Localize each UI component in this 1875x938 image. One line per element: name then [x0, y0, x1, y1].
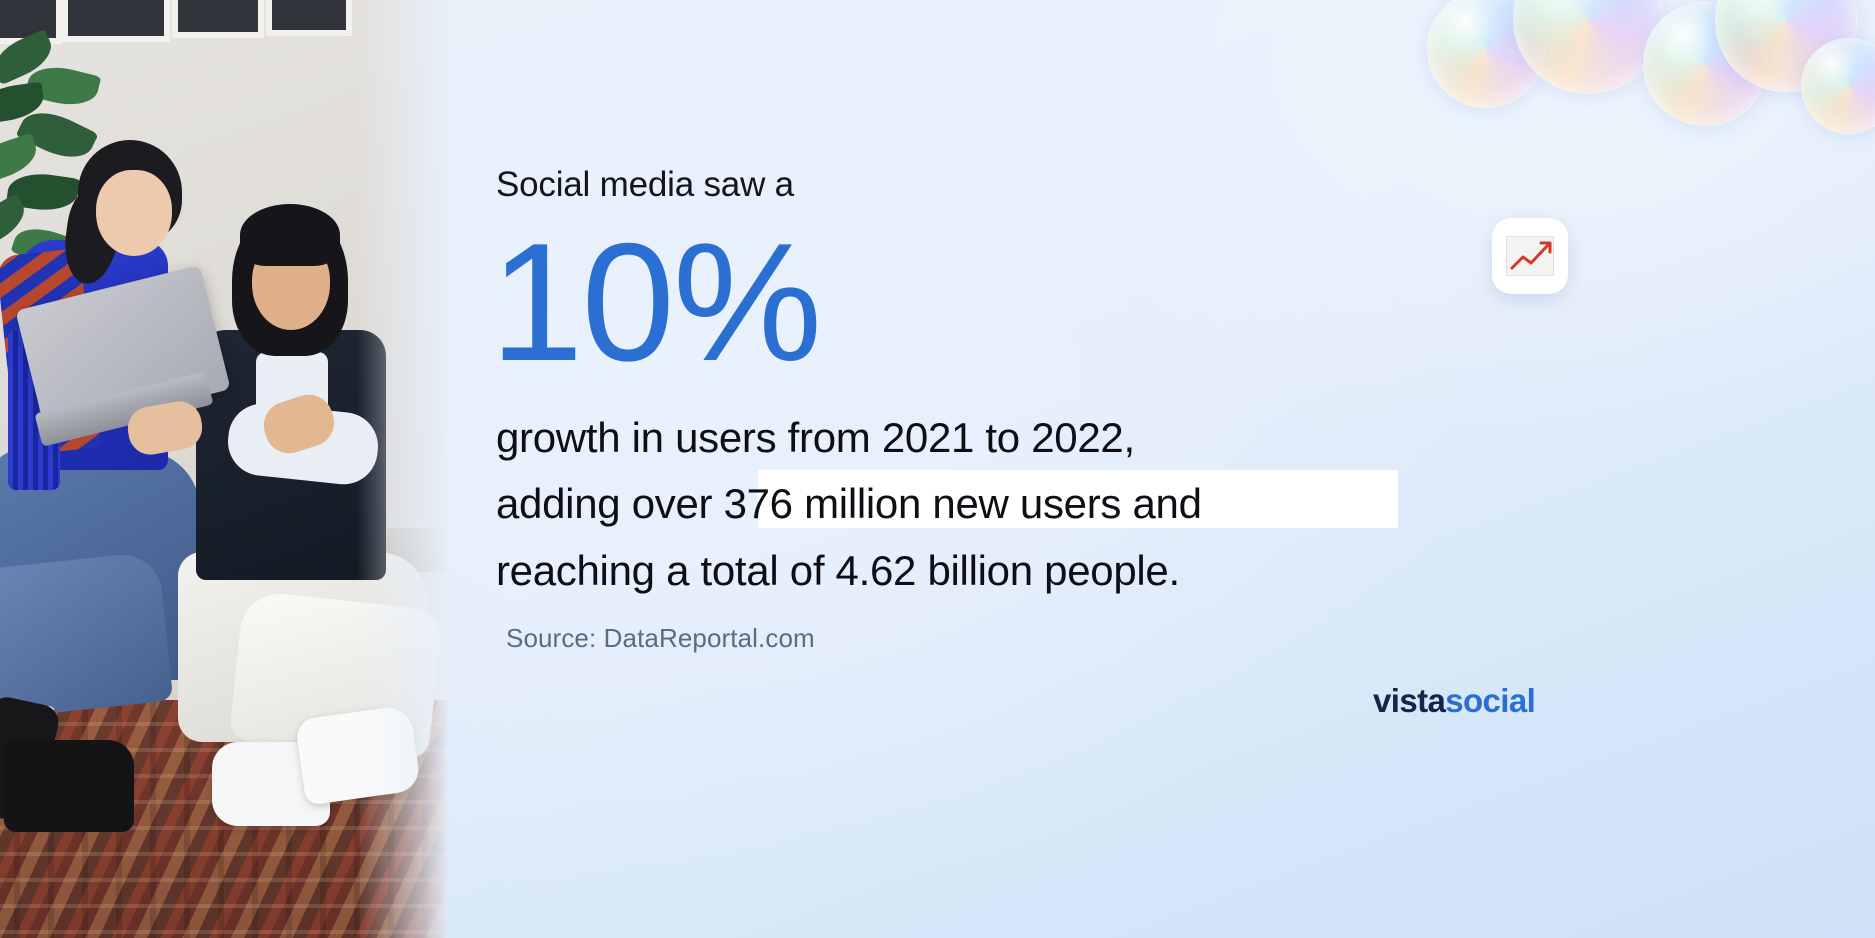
body-line-3: reaching a total of 4.62 billion people.: [496, 538, 1496, 604]
body-line-1: growth in users from 2021 to 2022,: [496, 405, 1496, 471]
copy-block: Social media saw a 10% growth in users f…: [496, 0, 1836, 938]
person-left-face: [96, 170, 172, 256]
photo-edge-fade: [357, 0, 447, 938]
body-line-2: adding over 376 million new users and: [496, 471, 1496, 537]
person-left-jeans: [0, 551, 173, 719]
person-left-boot: [4, 740, 134, 832]
logo-part-social: social: [1445, 682, 1535, 719]
logo-part-vista: vista: [1373, 682, 1445, 719]
content-panel: Social media saw a 10% growth in users f…: [447, 0, 1875, 938]
vistasocial-logo: vistasocial: [1373, 682, 1535, 720]
window-pane: [172, 0, 264, 38]
kicker-text: Social media saw a: [496, 165, 1396, 205]
person-right-hair: [240, 204, 340, 266]
window-pane: [266, 0, 352, 36]
body-text: growth in users from 2021 to 2022, addin…: [496, 405, 1496, 604]
lifestyle-photo: [0, 0, 447, 938]
source-attribution: Source: DataReportal.com: [506, 623, 815, 654]
stat-headline: 10%: [490, 218, 820, 386]
stat-card-canvas: Social media saw a 10% growth in users f…: [0, 0, 1875, 938]
